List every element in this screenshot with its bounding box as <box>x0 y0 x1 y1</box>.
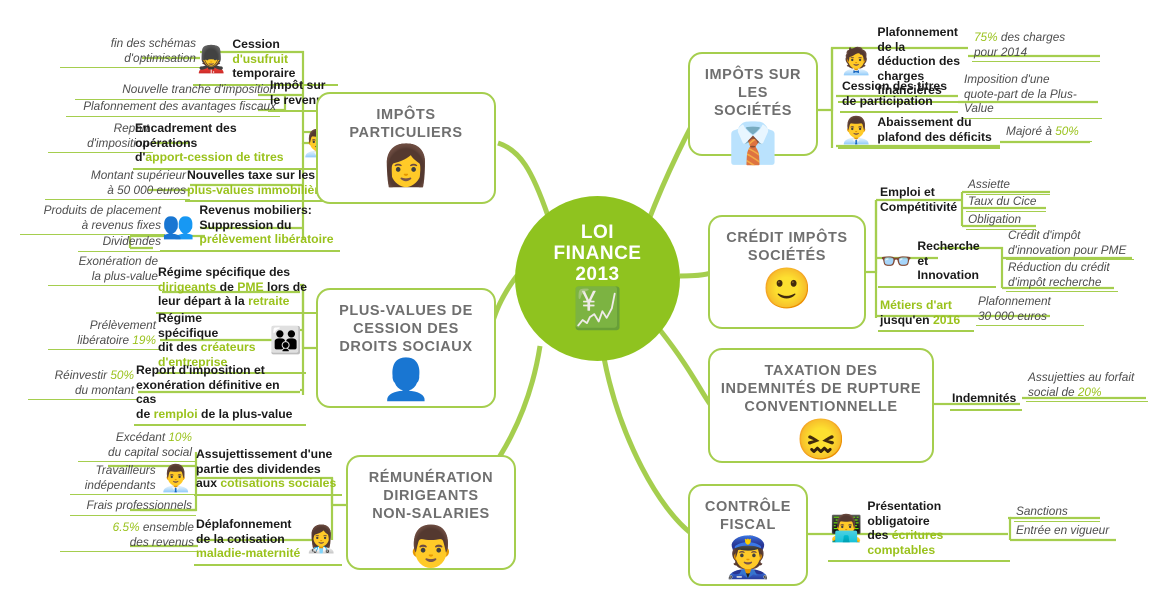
sub-travailleurs-independants[interactable]: Travailleurs indépendants 👨‍💼 <box>70 463 196 495</box>
branch-controle-fiscal[interactable]: CONTRÔLE FISCAL 👮 <box>688 484 808 586</box>
sub-fin-des-schemas[interactable]: fin des schémas d'optimisation <box>60 36 200 68</box>
branch-title: PLUS-VALUES DE CESSION DES DROITS SOCIAU… <box>339 302 473 356</box>
woman-avatar-icon: 👩 <box>381 144 431 188</box>
central-node[interactable]: LOI FINANCE 2013 💹 <box>515 196 680 361</box>
sub-sanctions[interactable]: Sanctions <box>1014 504 1100 522</box>
sub-dividendes[interactable]: Dividendes <box>78 234 165 252</box>
sub-75-des-charges[interactable]: 75% des charges pour 2014 <box>972 30 1100 62</box>
sub-entree-en-vigueur[interactable]: Entrée en vigueur <box>1014 523 1116 541</box>
man-money-icon: 👨 <box>406 525 456 569</box>
sub-nouvelle-tranche[interactable]: Nouvelle tranche d'imposition <box>75 82 280 100</box>
branch-title: TAXATION DES INDEMNITÉS DE RUPTURE CONVE… <box>721 362 921 416</box>
sub-plafonnement-avantages[interactable]: Plafonnement des avantages fiscaux <box>66 99 280 117</box>
branch-title: CRÉDIT IMPÔTS SOCIÉTÉS <box>726 229 847 265</box>
branch-title: RÉMUNÉRATION DIRIGEANTS NON-SALARIES <box>369 469 494 523</box>
sub-majore-a-50[interactable]: Majoré à 50% <box>1004 124 1092 142</box>
branch-impots-particuliers[interactable]: IMPÔTS PARTICULIERS 👩 <box>316 92 496 204</box>
glasses-icon: 👓 <box>880 247 912 275</box>
branch-title: IMPÔTS SUR LES SOCIÉTÉS <box>698 66 808 120</box>
man-download-icon: 👨‍💼 <box>840 116 872 144</box>
sub-taux-du-cice[interactable]: Taux du Cice <box>966 194 1046 212</box>
leaf-revenus-mobiliers[interactable]: 👥 Revenus mobiliers: Suppression du prél… <box>160 202 340 252</box>
leaf-regime-dirigeants-pme[interactable]: Régime spécifique des dirigeants de PME … <box>156 264 330 314</box>
leaf-plus-values-immobilieres[interactable]: Nouvelles taxe sur les plus-values immob… <box>185 167 337 202</box>
sub-exoneration-plus-value[interactable]: Exonération de la plus-value <box>48 254 162 286</box>
branch-plus-values-cession-droits-sociaux[interactable]: PLUS-VALUES DE CESSION DES DROITS SOCIAU… <box>316 288 496 408</box>
guard-icon: 💂 <box>195 45 227 73</box>
smiley-face-icon: 🙂 <box>762 267 812 311</box>
leaf-cession-titres-participation[interactable]: Cession des titres de participation <box>840 78 958 113</box>
leaf-presentation-ecritures-comptables[interactable]: 👨‍💻 Présentation obligatoire des écritur… <box>828 498 1010 562</box>
branch-credit-impots-societes[interactable]: CRÉDIT IMPÔTS SOCIÉTÉS 🙂 <box>708 215 866 329</box>
two-businessmen-icon: 👔 <box>728 122 778 166</box>
sub-6-5-ensemble-revenus[interactable]: 6.5% ensemble des revenus <box>60 520 198 552</box>
leaf-abaissement-plafond-deficits[interactable]: 👨‍💼 Abaissement du plafond des déficits <box>838 114 1000 149</box>
sub-produits-placement[interactable]: Produits de placement à revenus fixes <box>20 203 165 235</box>
man-lock-icon: 🧑‍💼 <box>840 47 872 75</box>
sub-assujetties-forfait-social[interactable]: Assujetties au forfait social de 20% <box>1026 370 1148 402</box>
leaf-metiers-art[interactable]: Métiers d'art jusqu'en 2016 <box>878 297 974 332</box>
sub-assiette[interactable]: Assiette <box>966 177 1050 195</box>
worker-icon: 👨‍💼 <box>160 464 192 492</box>
money-chart-icon: 💹 <box>573 289 623 329</box>
sub-reinvestir-50[interactable]: Réinvestir 50% du montant <box>28 368 138 400</box>
leaf-recherche-innovation[interactable]: 👓 Recherche et Innovation <box>878 238 996 288</box>
branch-impots-sur-les-societes[interactable]: IMPÔTS SUR LES SOCIÉTÉS 👔 <box>688 52 818 156</box>
user-plus-icon: 👤 <box>381 358 431 402</box>
sub-frais-professionnels[interactable]: Frais professionnels <box>70 498 196 516</box>
sub-reduction-credit-impot-recherche[interactable]: Réduction du crédit d'impôt recherche <box>1006 260 1118 292</box>
branch-taxation-indemnites-rupture[interactable]: TAXATION DES INDEMNITÉS DE RUPTURE CONVE… <box>708 348 934 463</box>
leaf-assujettissement-dividendes[interactable]: Assujettissement d'une partie des divide… <box>194 446 342 496</box>
sub-montant-superieur[interactable]: Montant supérieur à 50 000 euros <box>45 168 190 200</box>
accountant-icon: 👨‍💻 <box>830 514 862 542</box>
branch-remuneration-dirigeants-non-salaries[interactable]: RÉMUNÉRATION DIRIGEANTS NON-SALARIES 👨 <box>346 455 516 570</box>
leaf-emploi-competitivite[interactable]: Emploi et Compétitivité <box>878 184 968 217</box>
sub-plafonnement-30000[interactable]: Plafonnement 30 000 euros <box>976 294 1084 326</box>
leaf-apport-cession-titres[interactable]: Encadrement des opérations d'apport-cess… <box>133 120 338 170</box>
confounded-face-icon: 😖 <box>796 418 846 462</box>
sub-imposition-quote-part[interactable]: Imposition d'une quote-part de la Plus-V… <box>962 72 1102 119</box>
mindmap-canvas: LOI FINANCE 2013 💹 IMPÔTS PARTICULIERS 👩… <box>0 0 1170 615</box>
group-people-icon: 👪 <box>270 326 302 354</box>
sub-excedant-10[interactable]: Excédant 10% du capital social <box>78 430 196 462</box>
nurse-icon: 👩‍⚕️ <box>305 525 337 553</box>
sub-obligation[interactable]: Obligation <box>966 212 1036 230</box>
central-node-title: LOI FINANCE 2013 <box>554 222 642 285</box>
branch-title: CONTRÔLE FISCAL <box>705 498 791 534</box>
leaf-report-exoneration-remploi[interactable]: Report d'imposition et exonération défin… <box>134 362 306 426</box>
two-men-delete-icon: 👥 <box>162 211 194 239</box>
police-warning-icon: 👮 <box>723 536 773 580</box>
sub-prelevement-liberatoire-19[interactable]: Prélèvement libératoire 19% <box>48 318 160 350</box>
branch-title: IMPÔTS PARTICULIERS <box>349 106 462 142</box>
leaf-deplafonnement-cotisation[interactable]: Déplafonnement de la cotisation maladie-… <box>194 516 342 566</box>
sub-credit-impot-innovation[interactable]: Crédit d'impôt d'innovation pour PME <box>1006 228 1134 260</box>
leaf-indemnites[interactable]: Indemnités <box>950 390 1022 411</box>
